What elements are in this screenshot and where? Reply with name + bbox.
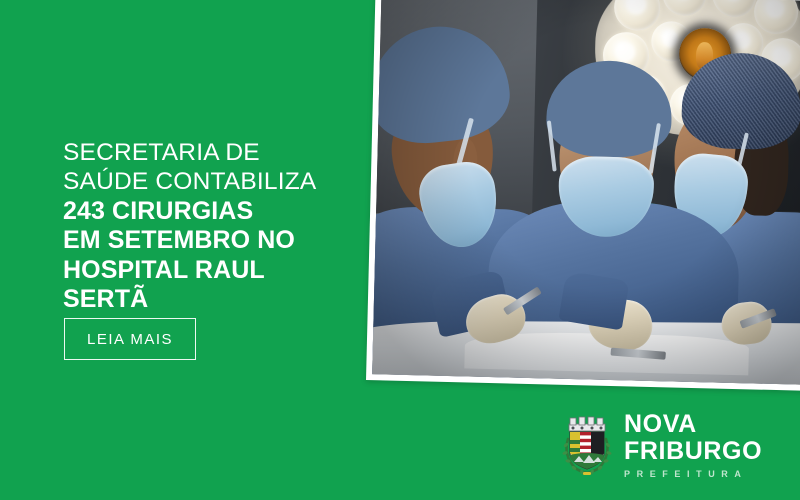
logo-line-2: FRIBURGO [624, 439, 762, 464]
headline-line-1: SECRETARIA DE [63, 139, 363, 168]
prefeitura-logo[interactable]: NOVA FRIBURGO PREFEITURA [561, 412, 762, 479]
news-banner: SECRETARIA DE SAÚDE CONTABILIZA 243 CIRU… [0, 0, 800, 500]
headline-line-5: HOSPITAL RAUL [63, 256, 363, 286]
surgical-cap [372, 19, 514, 150]
logo-wordmark: NOVA FRIBURGO PREFEITURA [624, 412, 762, 479]
logo-line-1: NOVA [624, 412, 762, 437]
headline-line-3: 243 CIRURGIAS [63, 197, 363, 227]
nova-friburgo-coat-of-arms-icon [561, 415, 613, 477]
operating-room-photo [372, 0, 800, 385]
headline-block: SECRETARIA DE SAÚDE CONTABILIZA 243 CIRU… [63, 139, 363, 315]
headline-line-6: SERTÃ [63, 285, 363, 315]
photo-frame [366, 0, 800, 391]
logo-subtitle: PREFEITURA [624, 470, 762, 479]
headline-line-2: SAÚDE CONTABILIZA [63, 168, 363, 197]
gown-sleeve [558, 271, 629, 331]
headline-line-4: EM SETEMBRO NO [63, 226, 363, 256]
read-more-button[interactable]: LEIA MAIS [64, 318, 196, 360]
